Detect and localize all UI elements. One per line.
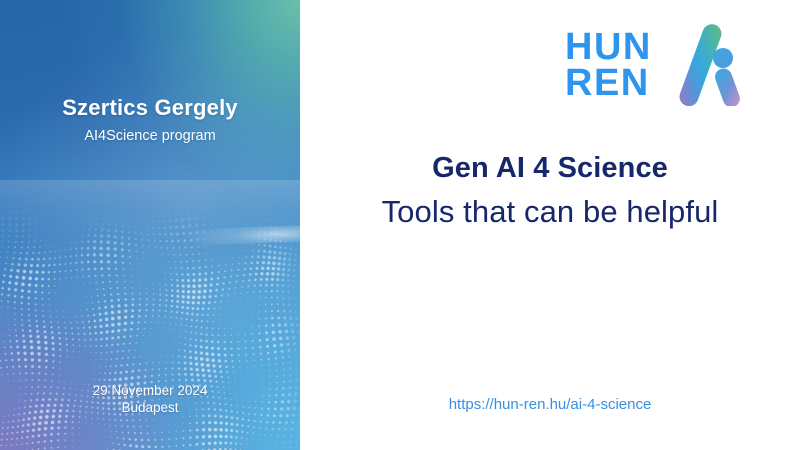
speaker-name: Szertics Gergely (0, 95, 300, 121)
title-block: Gen AI 4 Science Tools that can be helpf… (300, 152, 800, 230)
page-subtitle: Tools that can be helpful (300, 194, 800, 230)
speaker-program: AI4Science program (0, 128, 300, 144)
logo-line-hun: HUN (565, 29, 652, 65)
hun-ren-logo: HUN REN (565, 24, 744, 106)
event-date: 29 November 2024 (0, 383, 300, 400)
site-url-link[interactable]: https://hun-ren.hu/ai-4-science (300, 396, 800, 413)
hun-ren-wordmark: HUN REN (565, 29, 652, 101)
event-block: 29 November 2024 Budapest (0, 383, 300, 417)
presentation-title-slide: Szertics Gergely AI4Science program 29 N… (0, 0, 800, 450)
logo-line-ren: REN (565, 65, 652, 101)
page-title: Gen AI 4 Science (300, 152, 800, 185)
content-area: HUN REN (300, 0, 800, 450)
title-gradient-panel: Szertics Gergely AI4Science program 29 N… (0, 0, 300, 450)
hun-ren-a-mark-icon (664, 24, 744, 106)
speaker-block: Szertics Gergely AI4Science program (0, 95, 300, 144)
event-city: Budapest (0, 400, 300, 417)
